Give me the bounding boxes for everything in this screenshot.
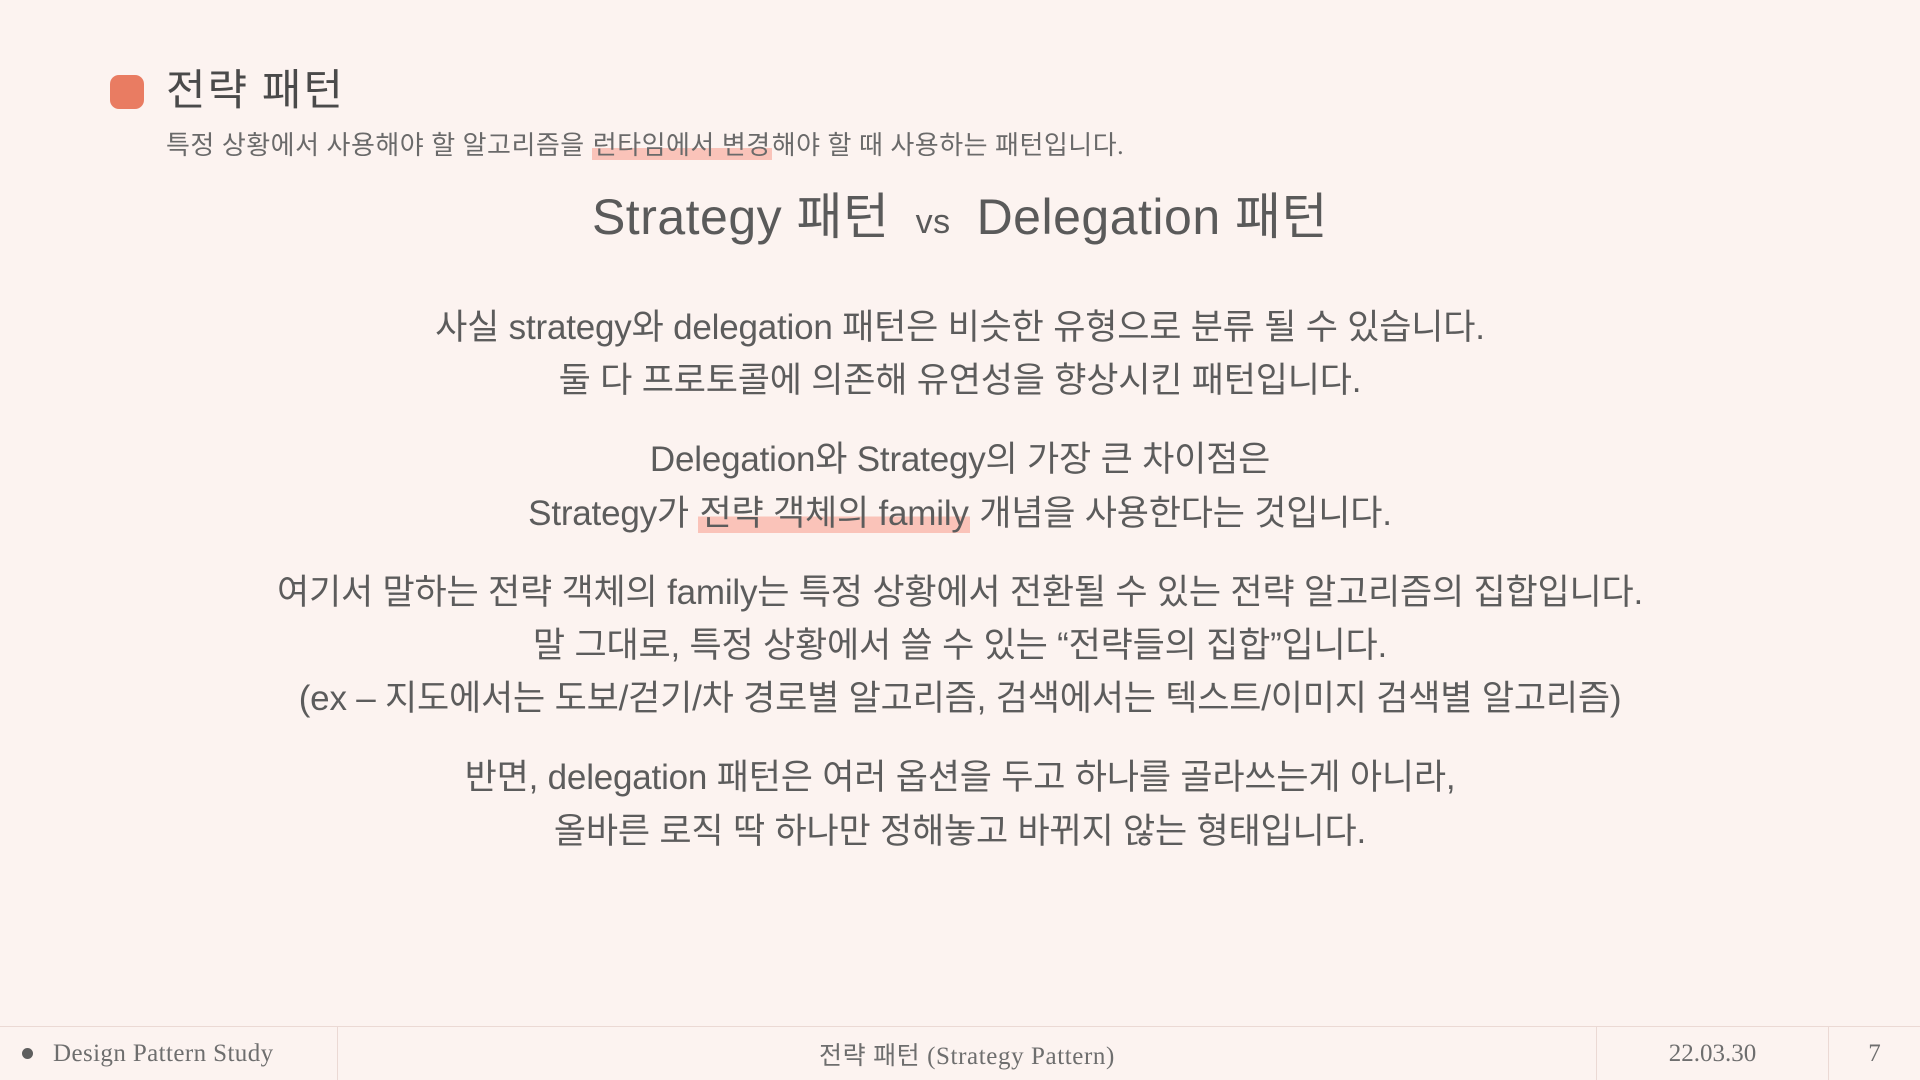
headline-left-term: Strategy 패턴 [592,189,890,245]
paragraph-line: 올바른 로직 딱 하나만 정해놓고 바뀌지 않는 형태입니다. [0,805,1920,858]
footer-date: 22.03.30 [1596,1027,1828,1080]
paragraph-line: Delegation와 Strategy의 가장 큰 차이점은 [0,433,1920,486]
spacer [0,407,1920,433]
footer-page-number: 7 [1828,1027,1920,1080]
paragraph-1: 사실 strategy와 delegation 패턴은 비슷한 유형으로 분류 … [0,301,1920,407]
headline-vs-label: vs [890,203,977,241]
body-highlight: 전략 객체의 family [698,494,969,533]
subtitle-text-after: 해야 할 때 사용하는 패턴입니다. [772,131,1124,160]
paragraph-4: 반면, delegation 패턴은 여러 옵션을 두고 하나를 골라쓰는게 아… [0,751,1920,857]
paragraph-line: 둘 다 프로토콜에 의존해 유연성을 향상시킨 패턴입니다. [0,354,1920,407]
paragraph-3: 여기서 말하는 전략 객체의 family는 특정 상황에서 전환될 수 있는 … [0,566,1920,726]
paragraph-2: Delegation와 Strategy의 가장 큰 차이점은 Strategy… [0,433,1920,539]
rounded-square-icon [110,75,144,109]
paragraph-line: 여기서 말하는 전략 객체의 family는 특정 상황에서 전환될 수 있는 … [0,566,1920,619]
page-title: 전략 패턴 [166,70,345,113]
slide-footer: Design Pattern Study 전략 패턴 (Strategy Pat… [0,1026,1920,1080]
title-row: 전략 패턴 [110,70,1124,113]
highlight-text-after: 개념을 사용한다는 것입니다. [970,494,1392,533]
comparison-headline: Strategy 패턴vsDelegation 패턴 [0,190,1920,245]
paragraph-line: 사실 strategy와 delegation 패턴은 비슷한 유형으로 분류 … [0,301,1920,354]
paragraph-line: (ex – 지도에서는 도보/걷기/차 경로별 알고리즘, 검색에서는 텍스트/… [0,672,1920,725]
footer-left: Design Pattern Study [0,1027,338,1080]
subtitle-text-before: 특정 상황에서 사용해야 할 알고리즘을 [166,131,592,160]
slide-body: Strategy 패턴vsDelegation 패턴 사실 strategy와 … [0,190,1920,858]
subtitle-highlight: 런타임에서 변경 [592,131,772,160]
paragraph-line: 말 그대로, 특정 상황에서 쓸 수 있는 “전략들의 집합”입니다. [0,619,1920,672]
slide-header: 전략 패턴 특정 상황에서 사용해야 할 알고리즘을 런타임에서 변경해야 할 … [110,70,1124,162]
paragraph-line-highlighted: Strategy가 전략 객체의 family 개념을 사용한다는 것입니다. [0,487,1920,540]
headline-right-term: Delegation 패턴 [977,189,1328,245]
bullet-dot-icon [22,1048,33,1059]
spacer [0,540,1920,566]
spacer [0,725,1920,751]
page-subtitle: 특정 상황에서 사용해야 할 알고리즘을 런타임에서 변경해야 할 때 사용하는… [166,125,1124,162]
footer-topic-label: 전략 패턴 (Strategy Pattern) [338,1027,1596,1080]
highlight-text-before: Strategy가 [528,494,698,533]
slide-canvas: 전략 패턴 특정 상황에서 사용해야 할 알고리즘을 런타임에서 변경해야 할 … [0,0,1920,1080]
paragraph-line: 반면, delegation 패턴은 여러 옵션을 두고 하나를 골라쓰는게 아… [0,751,1920,804]
footer-project-label: Design Pattern Study [53,1040,274,1068]
